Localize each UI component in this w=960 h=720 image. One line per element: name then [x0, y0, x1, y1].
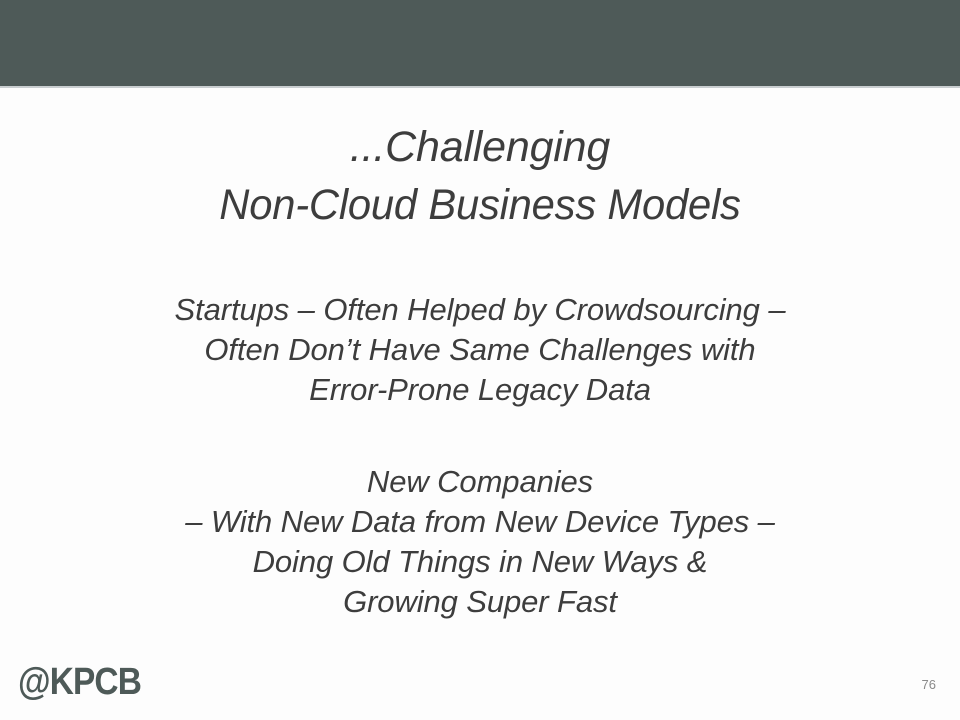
body-line: Often Don’t Have Same Challenges with [0, 330, 960, 370]
body-line: New Companies [0, 462, 960, 502]
body-line: Doing Old Things in New Ways & [0, 542, 960, 582]
page-number: 76 [922, 678, 936, 692]
body-line: – With New Data from New Device Types – [0, 502, 960, 542]
body-line: Error-Prone Legacy Data [0, 370, 960, 410]
slide-canvas: ...Challenging Non-Cloud Business Models… [0, 0, 960, 720]
header-band [0, 0, 960, 86]
header-band-edge [0, 86, 960, 88]
paragraph-startups: Startups – Often Helped by Crowdsourcing… [0, 290, 960, 410]
body-content: Startups – Often Helped by Crowdsourcing… [0, 290, 960, 622]
page-title: ...Challenging Non-Cloud Business Models [0, 118, 960, 234]
title-line-2: Non-Cloud Business Models [14, 176, 945, 234]
body-line: Startups – Often Helped by Crowdsourcing… [0, 290, 960, 330]
body-line: Growing Super Fast [0, 582, 960, 622]
kpcb-logo: @KPCB [18, 662, 141, 702]
title-line-1: ...Challenging [0, 118, 960, 176]
paragraph-new-companies: New Companies – With New Data from New D… [0, 462, 960, 622]
